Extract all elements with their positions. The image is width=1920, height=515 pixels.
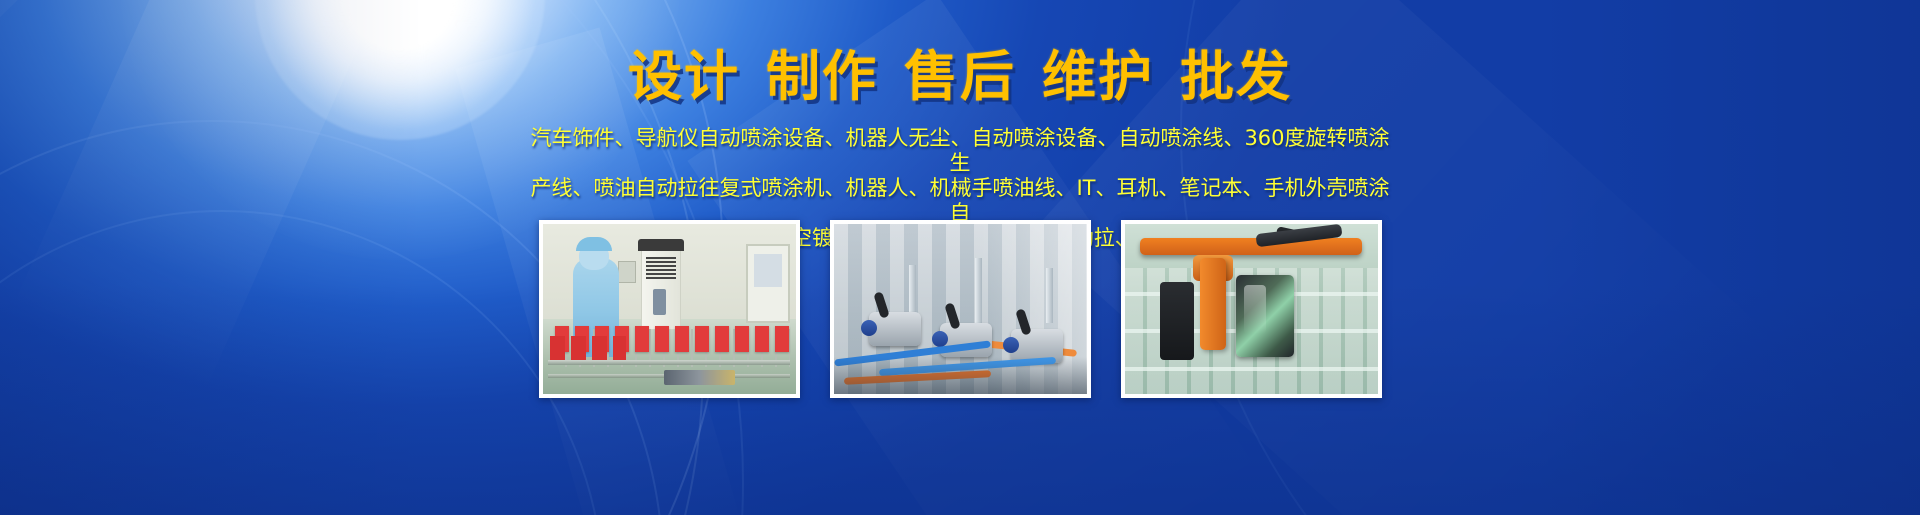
- conveyor-rail: [548, 360, 791, 365]
- promo-banner: 设计制作售后维护批发 汽车饰件、导航仪自动喷涂设备、机器人无尘、自动喷涂设备、自…: [0, 0, 1920, 515]
- vertical-post: [975, 258, 982, 323]
- headline-word-2: 制作: [766, 45, 878, 108]
- photo-robot-spray-arm[interactable]: [1121, 220, 1382, 398]
- rail-bar: [1125, 367, 1378, 371]
- photo-cleanroom-conveyor-line[interactable]: [539, 220, 800, 398]
- headline-word-1: 设计: [628, 45, 740, 108]
- robot-arm: [1200, 258, 1226, 350]
- subtitle-line-1: 汽车饰件、导航仪自动喷涂设备、机器人无尘、自动喷涂设备、自动喷涂线、360度旋转…: [530, 126, 1390, 176]
- headline-word-5: 批发: [1180, 45, 1292, 108]
- vertical-post: [1046, 268, 1053, 322]
- door: [746, 244, 790, 323]
- photo-gallery: [0, 220, 1920, 398]
- control-box: [618, 261, 636, 283]
- subtitle-line-2: 产线、喷油自动拉往复式喷涂机、机器人、机械手喷油线、IT、耳机、笔记本、手机外壳…: [530, 176, 1390, 226]
- headline-word-4: 维护: [1042, 45, 1154, 108]
- air-conditioner: [641, 246, 681, 330]
- workpiece-carrier: [1236, 275, 1294, 357]
- floor-shadow: [834, 357, 1087, 394]
- photo-spray-gun-assembly[interactable]: [830, 220, 1091, 398]
- spray-gun: [869, 312, 921, 346]
- headline-word-3: 售后: [904, 45, 1016, 108]
- orange-robot-beam: [1140, 238, 1363, 255]
- page-title: 设计制作售后维护批发: [0, 50, 1920, 104]
- black-fixture: [1160, 282, 1194, 360]
- tool-tray: [664, 370, 735, 385]
